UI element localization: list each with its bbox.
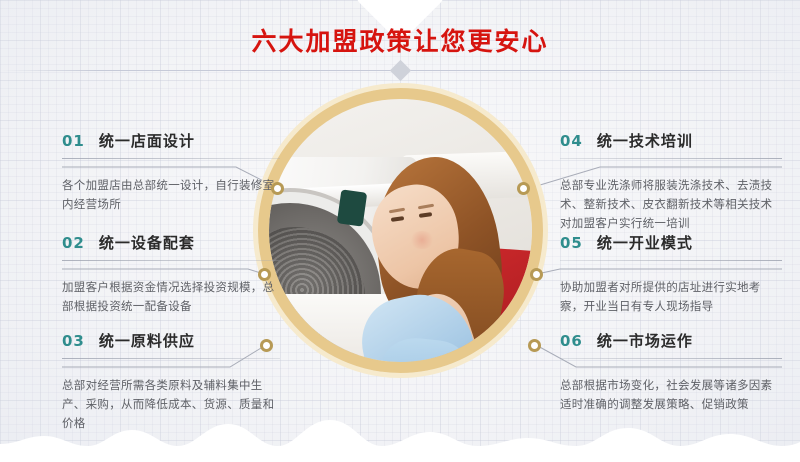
policy-number-03: 03 [62,332,85,350]
policy-rule-04 [560,158,782,159]
policy-item-05[interactable]: 05 统一开业模式 协助加盟者对所提供的店址进行实地考察，开业当日有专人现场指导 [560,232,782,316]
policy-rule-05 [560,260,782,261]
connector-dot-02 [258,268,271,281]
policy-title-01: 统一店面设计 [99,130,195,151]
policy-body-04: 总部专业洗涤师将服装洗涤技术、去渍技术、整新技术、皮衣翻新技术等相关技术对加盟客… [560,176,782,233]
policy-rule-01 [62,158,280,159]
policy-number-01: 01 [62,132,85,150]
policy-item-01[interactable]: 01 统一店面设计 各个加盟店由总部统一设计，自行装修室内经营场所 [62,130,280,214]
gold-ring [258,88,543,373]
policy-heading-row-05: 05 统一开业模式 [560,232,782,253]
connector-dot-03 [260,339,273,352]
policy-heading-row-02: 02 统一设备配套 [62,232,280,253]
policy-item-02[interactable]: 02 统一设备配套 加盟客户根据资金情况选择投资规模，总部根据投资统一配备设备 [62,232,280,316]
policy-body-05: 协助加盟者对所提供的店址进行实地考察，开业当日有专人现场指导 [560,278,782,316]
policy-heading-row-04: 04 统一技术培训 [560,130,782,151]
policy-title-02: 统一设备配套 [99,232,195,253]
policy-title-04: 统一技术培训 [597,130,693,151]
policy-heading-row-06: 06 统一市场运作 [560,330,782,351]
policy-rule-03 [62,358,280,359]
poster-canvas: 六大加盟政策让您更安心 [0,0,800,462]
connector-dot-06 [528,339,541,352]
policy-number-04: 04 [560,132,583,150]
page-title: 六大加盟政策让您更安心 [0,22,800,58]
policy-heading-row-01: 01 统一店面设计 [62,130,280,151]
policy-rule-06 [560,358,782,359]
policy-number-06: 06 [560,332,583,350]
policy-number-05: 05 [560,234,583,252]
bottom-cloud-decoration [0,402,800,462]
connector-dot-05 [530,268,543,281]
policy-body-01: 各个加盟店由总部统一设计，自行装修室内经营场所 [62,176,280,214]
policy-heading-row-03: 03 统一原料供应 [62,330,280,351]
policy-number-02: 02 [62,234,85,252]
policy-title-05: 统一开业模式 [597,232,693,253]
center-photo-circle [258,88,543,373]
connector-dot-01 [271,182,284,195]
policy-item-04[interactable]: 04 统一技术培训 总部专业洗涤师将服装洗涤技术、去渍技术、整新技术、皮衣翻新技… [560,130,782,233]
policy-title-06: 统一市场运作 [597,330,693,351]
policy-body-02: 加盟客户根据资金情况选择投资规模，总部根据投资统一配备设备 [62,278,280,316]
policy-rule-02 [62,260,280,261]
policy-title-03: 统一原料供应 [99,330,195,351]
connector-dot-04 [517,182,530,195]
